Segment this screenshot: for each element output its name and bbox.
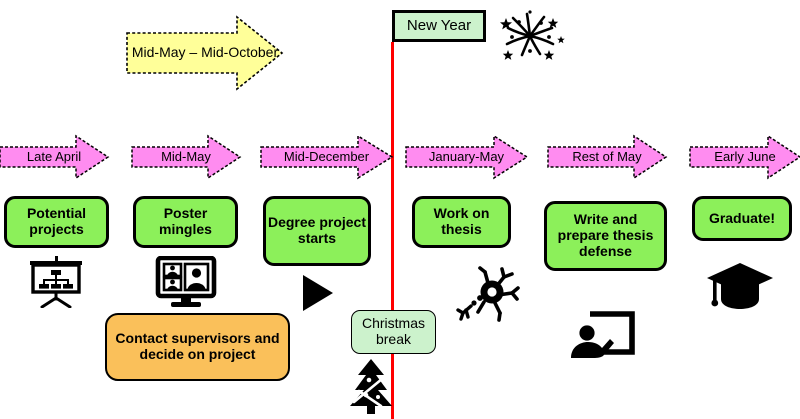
milestone-label: Potential projects — [7, 206, 106, 238]
period-arrow-mid-may: Mid-May — [130, 133, 242, 181]
milestone-label: Work on thesis — [415, 206, 508, 238]
break-label: Christmas break — [352, 316, 435, 348]
presenter-whiteboard-icon — [568, 310, 638, 364]
milestone-poster-mingles: Poster mingles — [133, 196, 238, 248]
break-christmas: Christmas break — [351, 310, 436, 354]
fireworks-icon — [494, 6, 566, 62]
new-year-label: New Year — [407, 17, 471, 34]
christmas-tree-icon — [345, 358, 397, 414]
new-year-label-box: New Year — [392, 10, 486, 42]
play-triangle-icon — [300, 273, 335, 313]
period-arrow-late-april: Late April — [0, 133, 110, 181]
milestone-work-on-thesis: Work on thesis — [412, 196, 511, 248]
period-arrow-early-june: Early June — [688, 133, 800, 181]
milestone-label: Poster mingles — [136, 206, 235, 238]
milestone-write-prepare-thesis-defense: Write and prepare thesis defense — [544, 201, 667, 271]
milestone-label: Degree project starts — [266, 215, 368, 247]
presentation-board-icon — [24, 256, 88, 308]
milestone-label: Graduate! — [709, 211, 775, 227]
period-arrow-rest-of-may: Rest of May — [546, 133, 668, 181]
timeline-diagram: New Year — [0, 0, 800, 419]
milestone-degree-project-starts: Degree project starts — [263, 196, 371, 266]
milestone-potential-projects: Potential projects — [4, 196, 109, 248]
period-arrow-january-may: January-May — [404, 133, 529, 181]
video-conference-icon — [155, 256, 217, 308]
milestone-label: Write and prepare thesis defense — [547, 212, 664, 260]
period-arrow-mid-december: Mid-December — [259, 133, 394, 181]
neuron-icon — [456, 265, 520, 323]
graduation-cap-icon — [705, 258, 775, 312]
task-label: Contact supervisors and decide on projec… — [107, 331, 288, 363]
span-arrow-mid-may-mid-october: Mid-May – Mid-October — [125, 14, 285, 92]
task-contact-supervisors: Contact supervisors and decide on projec… — [105, 313, 290, 381]
milestone-graduate: Graduate! — [692, 196, 792, 241]
